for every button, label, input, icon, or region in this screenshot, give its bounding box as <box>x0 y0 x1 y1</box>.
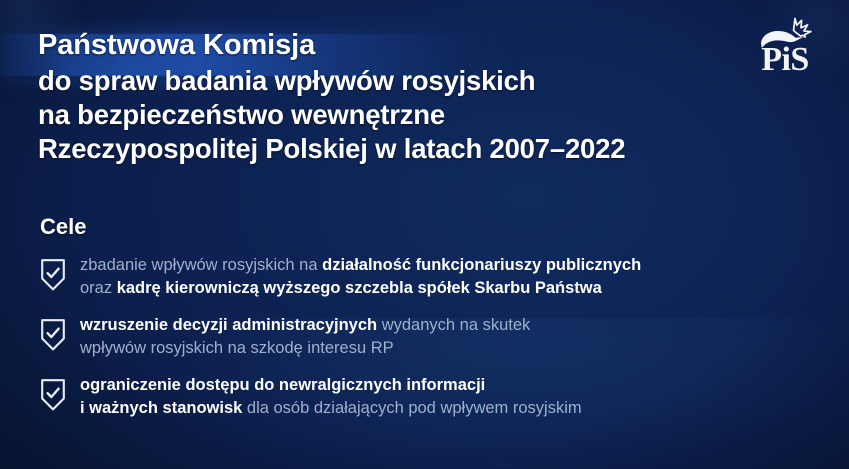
goal-item: zbadanie wpływów rosyjskich na działalno… <box>40 254 820 300</box>
goals-heading: Cele <box>40 214 86 240</box>
goal-text-line: wpływów rosyjskich na szkodę interesu RP <box>80 337 820 360</box>
goal-span-bold: i ważnych stanowisk <box>80 399 242 417</box>
pis-logo: PiS <box>743 12 827 82</box>
title-line-4: Rzeczypospolitej Polskiej w latach 2007–… <box>38 132 728 166</box>
goal-span-light: wydanych na skutek <box>377 316 530 334</box>
goals-list: zbadanie wpływów rosyjskich na działalno… <box>40 254 820 434</box>
goal-text: wzruszenie decyzji administracyjnych wyd… <box>80 314 820 360</box>
crown-icon <box>794 19 811 38</box>
goal-text-line: wzruszenie decyzji administracyjnych wyd… <box>80 314 820 337</box>
goal-item: ograniczenie dostępu do newralgicznych i… <box>40 374 820 420</box>
goal-item: wzruszenie decyzji administracyjnych wyd… <box>40 314 820 360</box>
slide-title: Państwowa Komisja do spraw badania wpływ… <box>38 26 728 166</box>
goal-text: zbadanie wpływów rosyjskich na działalno… <box>80 254 820 300</box>
title-line-3: na bezpieczeństwo wewnętrzne <box>38 98 728 132</box>
title-line-2: do spraw badania wpływów rosyjskich <box>38 64 728 98</box>
shield-check-icon <box>40 378 66 412</box>
goal-text: ograniczenie dostępu do newralgicznych i… <box>80 374 820 420</box>
goal-span-light: dla osób działających pod wpływem rosyjs… <box>242 399 581 417</box>
goal-text-line: ograniczenie dostępu do newralgicznych i… <box>80 374 820 397</box>
goal-span-bold: działalność funkcjonariuszy publicznych <box>322 256 641 274</box>
shield-check-icon <box>40 258 66 292</box>
goal-text-line: zbadanie wpływów rosyjskich na działalno… <box>80 254 820 277</box>
goal-span-bold: kadrę kierowniczą wyższego szczebla spół… <box>117 279 602 297</box>
goal-span-light: wpływów rosyjskich na szkodę interesu RP <box>80 339 394 357</box>
goal-text-line: oraz kadrę kierowniczą wyższego szczebla… <box>80 277 820 300</box>
goal-span-light: zbadanie wpływów rosyjskich na <box>80 256 322 274</box>
pis-wordmark: PiS <box>761 41 809 78</box>
shield-check-icon <box>40 318 66 352</box>
goal-span-light: oraz <box>80 279 117 297</box>
presentation-slide: Państwowa Komisja do spraw badania wpływ… <box>0 0 849 469</box>
title-line-1: Państwowa Komisja <box>38 26 728 64</box>
goal-span-bold: wzruszenie decyzji administracyjnych <box>80 316 377 334</box>
goal-span-bold: ograniczenie dostępu do newralgicznych i… <box>80 376 485 394</box>
goal-text-line: i ważnych stanowisk dla osób działającyc… <box>80 397 820 420</box>
